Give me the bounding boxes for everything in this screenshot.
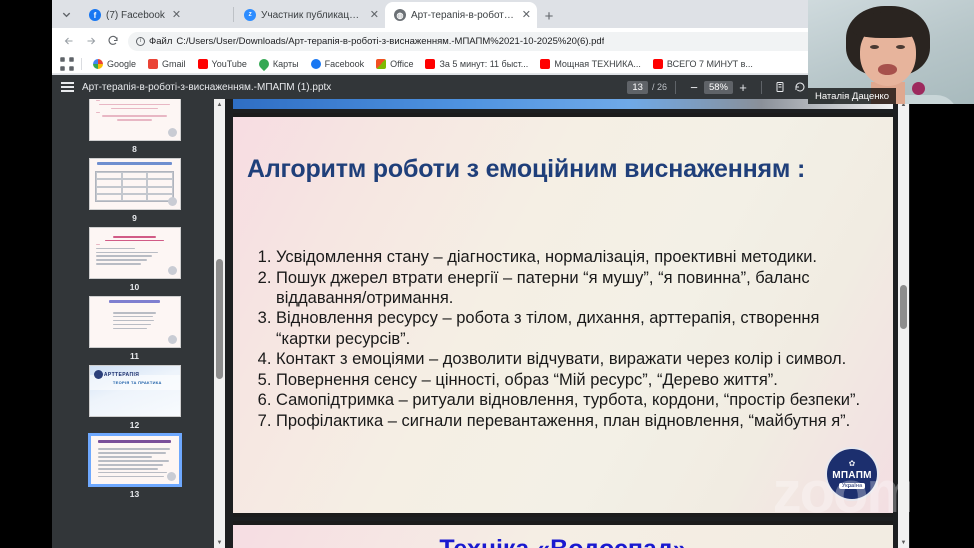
bookmark-video-2[interactable]: Мощная ТЕХНИКА...	[534, 55, 647, 73]
list-item: Пошук джерел втрати енергії – патерни “я…	[276, 268, 877, 308]
slide-logo-icon	[94, 370, 103, 379]
bookmark-label: Карты	[273, 59, 299, 69]
participant-name-label: Наталія Даценко	[815, 91, 889, 102]
participant-name-bar: Наталія Даценко	[808, 88, 896, 104]
pdf-document-title: Арт-терапія-в-роботі-з-виснаженням.-МПАП…	[82, 82, 331, 93]
scroll-down-icon[interactable]: ▼	[898, 537, 909, 548]
thumbnail-item[interactable]: 9	[89, 158, 181, 223]
pdf-toolbar: Арт-терапія-в-роботі-з-виснаженням.-МПАП…	[52, 75, 910, 99]
webcam-eye-right	[896, 45, 905, 49]
new-tab-button[interactable]: +	[537, 4, 561, 28]
thumbnail-item-selected[interactable]: 13	[89, 434, 181, 499]
youtube-icon	[540, 59, 550, 69]
youtube-icon	[653, 59, 663, 69]
webcam-video-overlay[interactable]: Наталія Даценко	[808, 0, 974, 104]
bookmark-office[interactable]: Office	[370, 55, 419, 73]
slide-heading: Алгоритм роботи з емоційним виснаженням …	[247, 155, 805, 184]
rotate-icon[interactable]	[790, 77, 810, 97]
bookmarks-bar: Google Gmail YouTube Карты Facebook Offi…	[52, 54, 910, 74]
tab-label: (7) Facebook	[106, 10, 165, 21]
thumbnail-title-line	[109, 300, 159, 303]
toolbar-separator	[761, 81, 762, 94]
thumbnail-panel[interactable]: 8 9	[52, 99, 225, 548]
thumbnail-title-line	[97, 162, 173, 165]
scrollbar-thumb[interactable]	[216, 259, 223, 379]
zoom-out-button[interactable]: −	[684, 77, 704, 97]
tab-search-chevron-down-icon[interactable]	[52, 0, 80, 28]
logo-text: МПАПМ	[832, 470, 872, 481]
bookmark-label: Office	[390, 59, 413, 69]
info-icon: i	[136, 37, 145, 46]
tab-close-icon[interactable]: ✕	[522, 10, 531, 21]
tab-label: Арт-терапія-в-роботі-з-виснаж	[411, 10, 515, 21]
thumbnail-page-number: 12	[130, 420, 139, 430]
desktop-background-left	[0, 0, 52, 548]
bookmark-divider	[81, 58, 82, 70]
thumbnail-item[interactable]: 8	[89, 99, 181, 154]
bookmark-youtube[interactable]: YouTube	[192, 55, 253, 73]
bookmark-video-3[interactable]: ВСЕГО 7 МИНУТ в...	[647, 55, 759, 73]
url-text: C:/Users/User/Downloads/Арт-терапія-в-ро…	[176, 36, 604, 47]
thumbnail-preview	[89, 434, 181, 486]
thumbnail-preview	[89, 158, 181, 210]
youtube-icon	[198, 59, 208, 69]
tab-zoom-participant[interactable]: Z Участник публикации - Zoom ✕	[235, 2, 385, 28]
thumbnail-item[interactable]: 10	[89, 227, 181, 292]
scroll-down-icon[interactable]: ▼	[214, 537, 225, 548]
scroll-up-icon[interactable]: ▲	[214, 99, 225, 110]
tab-label: Участник публикации - Zoom	[261, 10, 363, 21]
bookmark-label: ВСЕГО 7 МИНУТ в...	[667, 59, 753, 69]
thumbnail-preview	[89, 296, 181, 348]
thumbnail-page-number: 13	[130, 489, 139, 499]
webcam-eye-left	[870, 45, 879, 49]
page-total-label: / 26	[652, 82, 667, 92]
bookmark-facebook[interactable]: Facebook	[305, 55, 371, 73]
thumbnail-item[interactable]: АРТТЕРАПІЯ ТЕОРІЯ ТА ПРАКТИКА 12	[89, 365, 181, 430]
apps-grid-icon[interactable]	[58, 55, 76, 73]
previous-slide-banner: з арттерапевтом Наталією Даценко	[233, 99, 893, 109]
next-slide-heading: Техніка «Водоспад»	[233, 535, 893, 548]
thumbnail-title-line	[98, 440, 172, 443]
forward-icon[interactable]	[80, 30, 102, 52]
pdf-viewer: Арт-терапія-в-роботі-з-виснаженням.-МПАП…	[52, 75, 910, 548]
bookmark-label: Gmail	[162, 59, 186, 69]
list-item: Самопідтримка – ритуали відновлення, тур…	[276, 390, 877, 410]
zoom-icon: Z	[244, 9, 256, 21]
facebook-icon: f	[89, 9, 101, 21]
bookmark-label: Мощная ТЕХНИКА...	[554, 59, 641, 69]
next-slide-preview: Техніка «Водоспад»	[233, 521, 893, 548]
tab-pdf-document[interactable]: ◍ Арт-терапія-в-роботі-з-виснаж ✕	[385, 2, 537, 28]
slide-logo-icon	[167, 472, 176, 481]
logo-emblem: ✿	[849, 460, 856, 468]
pdf-page-area[interactable]: з арттерапевтом Наталією Даценко Алгорит…	[225, 99, 910, 548]
office-icon	[376, 59, 386, 69]
list-item: Контакт з емоціями – дозволити відчувати…	[276, 349, 877, 369]
bookmark-label: За 5 минут: 11 быст...	[439, 59, 528, 69]
thumbnail-scrollbar[interactable]: ▲ ▼	[214, 99, 225, 548]
list-item: Повернення сенсу – цінності, образ “Мій …	[276, 370, 877, 390]
bookmark-label: Google	[107, 59, 136, 69]
google-icon	[93, 59, 103, 69]
tab-facebook[interactable]: f (7) Facebook ✕	[80, 2, 232, 28]
slide-algorithm-list: Усвідомлення стану – діагностика, нормал…	[250, 247, 877, 432]
thumbnail-preview	[89, 99, 181, 141]
slide-logo-icon	[168, 197, 177, 206]
list-item: Профілактика – сигнали перевантаження, п…	[276, 411, 877, 431]
thumbnail-item[interactable]: 11	[89, 296, 181, 361]
list-item: Усвідомлення стану – діагностика, нормал…	[276, 247, 877, 267]
screen-root: f (7) Facebook ✕ Z Участник публикации -…	[0, 0, 974, 548]
thumbnail-page-number: 8	[132, 144, 137, 154]
tab-close-icon[interactable]: ✕	[370, 10, 379, 21]
back-icon[interactable]	[58, 30, 80, 52]
toolbar-separator	[675, 81, 676, 94]
address-bar[interactable]: i Файл C:/Users/User/Downloads/Арт-терап…	[128, 32, 904, 51]
zoom-level-label[interactable]: 58%	[704, 81, 733, 94]
thumbnail-page-number: 9	[132, 213, 137, 223]
maps-icon	[257, 56, 271, 70]
url-scheme-label: Файл	[149, 36, 172, 47]
bookmark-label: Facebook	[325, 59, 365, 69]
thumbnail-preview: АРТТЕРАПІЯ ТЕОРІЯ ТА ПРАКТИКА	[89, 365, 181, 417]
zoom-in-button[interactable]: +	[733, 77, 753, 97]
slide-logo-icon	[168, 335, 177, 344]
bookmark-video-1[interactable]: За 5 минут: 11 быст...	[419, 55, 534, 73]
webcam-brooch	[912, 82, 925, 95]
navigation-bar: i Файл C:/Users/User/Downloads/Арт-терап…	[52, 28, 910, 54]
globe-icon: ◍	[394, 9, 406, 21]
slide-logo-icon	[168, 266, 177, 275]
tab-close-icon[interactable]: ✕	[172, 10, 181, 21]
current-slide: Алгоритм роботи з емоційним виснаженням …	[233, 113, 893, 517]
thumbnail-list: 8 9	[52, 99, 217, 503]
bookmark-maps[interactable]: Карты	[253, 55, 305, 73]
facebook-icon	[311, 59, 321, 69]
scrollbar-thumb[interactable]	[900, 285, 907, 329]
bookmark-gmail[interactable]: Gmail	[142, 55, 192, 73]
bookmark-label: YouTube	[212, 59, 247, 69]
thumbnail-page-number: 11	[130, 351, 139, 361]
sidebar-toggle-icon[interactable]	[52, 75, 82, 99]
browser-window: f (7) Facebook ✕ Z Участник публикации -…	[52, 0, 910, 548]
tab-separator	[233, 7, 234, 22]
logo-country: Україна	[839, 483, 865, 489]
gmail-icon	[148, 59, 158, 69]
webcam-mouth	[878, 64, 897, 75]
page-number-input[interactable]: 13	[627, 81, 648, 94]
thumbnail-page-number: 10	[130, 282, 139, 292]
youtube-icon	[425, 59, 435, 69]
tab-strip: f (7) Facebook ✕ Z Участник публикации -…	[52, 0, 910, 28]
bookmark-google[interactable]: Google	[87, 55, 142, 73]
list-item: Відновлення ресурсу – робота з тілом, ди…	[276, 308, 877, 348]
thumbnail-preview	[89, 227, 181, 279]
mpapm-logo-icon: ✿ МПАПМ Україна	[825, 447, 879, 501]
reload-icon[interactable]	[102, 30, 124, 52]
slide-logo-icon	[168, 128, 177, 137]
thumbnail-table	[95, 171, 174, 202]
page-scrollbar[interactable]: ▲ ▼	[898, 99, 909, 548]
fit-page-icon[interactable]	[770, 77, 790, 97]
